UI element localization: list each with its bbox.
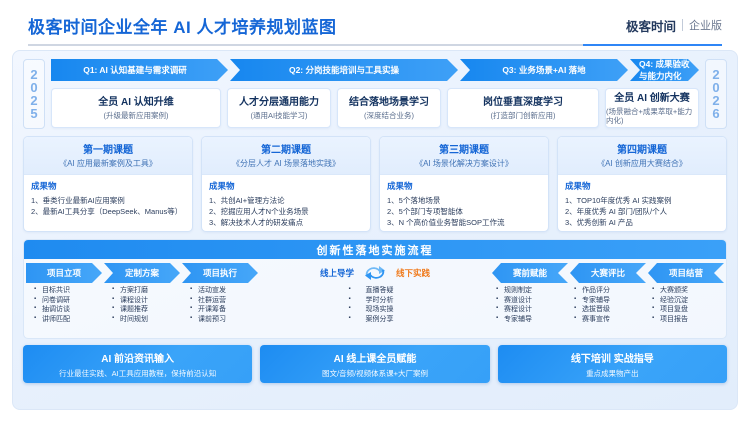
timeline-row: 2 0 2 5 Q1: AI 认知基建与需求调研 Q2: 分岗技能培训与工具实操… <box>23 59 727 129</box>
list-item: 选拔晋级 <box>582 305 644 315</box>
process-column-4: 直播答疑 学时分析 现场实操 案例分享 <box>262 286 488 324</box>
list-item: 专家辅导 <box>582 296 644 306</box>
cycle-arrows-icon <box>362 263 388 283</box>
course-card-3-items: 1、5个落地场景 2、5个部门专项智能体 3、N 个高价值业务智能SOP工作流 <box>387 195 541 228</box>
process-step-6[interactable]: 项目结营 <box>648 263 724 283</box>
list-item: 开课筹备 <box>198 305 260 315</box>
course-card-1-items: 1、垂类行业最新AI应用案例 2、最新AI工具分享（DeepSeek、Manus… <box>31 195 185 217</box>
list-item: 1、TOP10年度优秀 AI 实践案例 <box>565 195 719 206</box>
list-item: 项目报告 <box>660 315 722 325</box>
process-step-1[interactable]: 项目立项 <box>26 263 102 283</box>
list-item: 2、年度优秀 AI 部门/团队/个人 <box>565 206 719 217</box>
process-steps: 项目立项 定制方案 项目执行 线上导学 线下实践 赛前赋能 大赛评比 项目结营 <box>24 263 726 283</box>
process-step-3[interactable]: 项目执行 <box>182 263 258 283</box>
course-card-2-title: 第二期课题 <box>202 141 370 156</box>
course-card-4-deliverable-label: 成果物 <box>565 180 719 192</box>
list-item: 专家辅导 <box>504 315 566 325</box>
process-title: 创新性落地实施流程 <box>24 240 726 259</box>
bottom-bar-3-title: 线下培训 实战指导 <box>571 350 654 365</box>
list-item: 赛程设计 <box>504 305 566 315</box>
list-item: 3、优秀创新 AI 产品 <box>565 217 719 228</box>
list-item: 学时分析 <box>357 296 394 306</box>
quarter-arrow-q1[interactable]: Q1: AI 认知基建与需求调研 <box>51 59 228 81</box>
course-cards-row: 第一期课题 《AI 应用最新案例及工具》 成果物 1、垂类行业最新AI应用案例 … <box>23 136 727 232</box>
quarter-card-1[interactable]: 全员 AI 认知升维 (升级最新应用案例) <box>51 88 221 128</box>
page-title: 极客时间企业全年 AI 人才培养规划蓝图 <box>28 13 336 38</box>
quarter-card-4-title: 岗位垂直深度学习 <box>483 96 563 109</box>
list-item: 1、共创AI+管理方法论 <box>209 195 363 206</box>
list-item: 案例分享 <box>357 315 394 325</box>
quarter-card-2-subtitle: (通用AI技能学习) <box>250 111 307 120</box>
process-column-6: 作品评分 专家辅导 选拔晋级 赛事宣传 <box>568 286 644 324</box>
list-item: 作品评分 <box>582 286 644 296</box>
list-item: 活动宣发 <box>198 286 260 296</box>
course-card-3-title: 第三期课题 <box>380 141 548 156</box>
quarter-card-5-title: 全员 AI 创新大赛 <box>614 92 690 105</box>
quarter-arrow-q4[interactable]: Q4: 成果验收与能力内化 <box>630 59 699 81</box>
list-item: 3、N 个高价值业务智能SOP工作流 <box>387 217 541 228</box>
page-header: 极客时间企业全年 AI 人才培养规划蓝图 极客时间 企业版 <box>0 0 750 50</box>
list-item: 抽调访谈 <box>42 305 104 315</box>
list-item: 目标共识 <box>42 286 104 296</box>
bottom-bars: AI 前沿资讯输入 行业最佳实践、AI工具应用教程，保持前沿认知 AI 线上课全… <box>23 345 727 383</box>
year-start-rail: 2 0 2 5 <box>23 59 45 129</box>
quarter-arrow-q3[interactable]: Q3: 业务场景+AI 落地 <box>460 59 628 81</box>
course-card-1[interactable]: 第一期课题 《AI 应用最新案例及工具》 成果物 1、垂类行业最新AI应用案例 … <box>23 136 193 232</box>
quarter-card-3-subtitle: (深度结合业务) <box>364 111 414 120</box>
quarter-card-4-subtitle: (打造部门创新应用) <box>491 111 556 120</box>
course-card-3-body: 成果物 1、5个落地场景 2、5个部门专项智能体 3、N 个高价值业务智能SOP… <box>380 175 548 228</box>
list-item: 赛事宣传 <box>582 315 644 325</box>
quarter-card-1-title: 全员 AI 认知升维 <box>98 96 174 109</box>
list-item: 课前预习 <box>198 315 260 325</box>
course-card-3-deliverable-label: 成果物 <box>387 180 541 192</box>
course-card-4-body: 成果物 1、TOP10年度优秀 AI 实践案例 2、年度优秀 AI 部门/团队/… <box>558 175 726 228</box>
course-card-2-subtitle: 《分层人才 AI 场景落地实践》 <box>202 158 370 169</box>
course-card-3-header: 第三期课题 《AI 场景化解决方案设计》 <box>380 137 548 175</box>
list-item: 课程设计 <box>120 296 182 306</box>
list-item: 现场实操 <box>357 305 394 315</box>
list-item: 2、最新AI工具分享（DeepSeek、Manus等） <box>31 206 185 217</box>
brand-name: 极客时间 <box>626 16 676 35</box>
list-item: 大赛颁奖 <box>660 286 722 296</box>
course-card-1-body: 成果物 1、垂类行业最新AI应用案例 2、最新AI工具分享（DeepSeek、M… <box>24 175 192 217</box>
quarter-arrows: Q1: AI 认知基建与需求调研 Q2: 分岗技能培训与工具实操 Q3: 业务场… <box>51 59 699 81</box>
bottom-bar-1[interactable]: AI 前沿资讯输入 行业最佳实践、AI工具应用教程，保持前沿认知 <box>23 345 252 383</box>
course-card-2[interactable]: 第二期课题 《分层人才 AI 场景落地实践》 成果物 1、共创AI+管理方法论 … <box>201 136 371 232</box>
list-item: 2、5个部门专项智能体 <box>387 206 541 217</box>
quarter-card-3[interactable]: 结合落地场景学习 (深度结合业务) <box>337 88 441 128</box>
course-card-1-title: 第一期课题 <box>24 141 192 156</box>
quarter-arrow-q2[interactable]: Q2: 分岗技能培训与工具实操 <box>230 59 458 81</box>
process-section: 创新性落地实施流程 项目立项 定制方案 项目执行 线上导学 线下实践 赛前赋能 <box>23 239 727 339</box>
course-card-1-deliverable-label: 成果物 <box>31 180 185 192</box>
bottom-bar-2-title: AI 线上课全员赋能 <box>334 350 417 365</box>
list-item: 3、解决技术人才的研发痛点 <box>209 217 363 228</box>
blueprint-panel: 2 0 2 5 Q1: AI 认知基建与需求调研 Q2: 分岗技能培训与工具实操… <box>12 50 738 410</box>
list-item: 直播答疑 <box>357 286 394 296</box>
bottom-bar-2[interactable]: AI 线上课全员赋能 图文/音频/视频体系课+大厂案例 <box>260 345 489 383</box>
quarter-card-4[interactable]: 岗位垂直深度学习 (打造部门创新应用) <box>447 88 599 128</box>
course-card-1-subtitle: 《AI 应用最新案例及工具》 <box>24 158 192 169</box>
process-column-7: 大赛颁奖 经验沉淀 项目复盘 项目报告 <box>646 286 722 324</box>
bottom-bar-1-subtitle: 行业最佳实践、AI工具应用教程，保持前沿认知 <box>59 368 216 379</box>
course-card-4-subtitle: 《AI 创新应用大赛结合》 <box>558 158 726 169</box>
quarter-card-5[interactable]: 全员 AI 创新大赛 (场景融合+成果萃取+能力内化) <box>605 88 699 128</box>
course-card-4-title: 第四期课题 <box>558 141 726 156</box>
list-item: 1、垂类行业最新AI应用案例 <box>31 195 185 206</box>
bottom-bar-3[interactable]: 线下培训 实战指导 重点成果物产出 <box>498 345 727 383</box>
list-item: 经验沉淀 <box>660 296 722 306</box>
process-detail-columns: 目标共识 问卷调研 抽调访谈 讲师匹配 方案打磨 课程设计 课题推荐 时间规划 <box>24 286 726 324</box>
quarter-card-5-subtitle: (场景融合+成果萃取+能力内化) <box>606 107 698 125</box>
process-step-5[interactable]: 大赛评比 <box>570 263 646 283</box>
course-card-2-body: 成果物 1、共创AI+管理方法论 2、挖掘应用人才N个业务场景 3、解决技术人才… <box>202 175 370 228</box>
cycle-offline-label: 线下实践 <box>396 267 430 279</box>
list-item: 讲师匹配 <box>42 315 104 325</box>
cycle-group: 线上导学 线下实践 <box>260 263 490 283</box>
cycle-online-label: 线上导学 <box>320 267 354 279</box>
header-divider <box>28 44 722 46</box>
list-item: 时间规划 <box>120 315 182 325</box>
brand-edition: 企业版 <box>689 17 722 33</box>
course-card-2-items: 1、共创AI+管理方法论 2、挖掘应用人才N个业务场景 3、解决技术人才的研发痛… <box>209 195 363 228</box>
course-card-2-deliverable-label: 成果物 <box>209 180 363 192</box>
course-card-1-header: 第一期课题 《AI 应用最新案例及工具》 <box>24 137 192 175</box>
year-start-digit-4: 5 <box>30 107 37 120</box>
quarter-card-3-title: 结合落地场景学习 <box>349 96 429 109</box>
process-column-1: 目标共识 问卷调研 抽调访谈 讲师匹配 <box>28 286 104 324</box>
course-card-3[interactable]: 第三期课题 《AI 场景化解决方案设计》 成果物 1、5个落地场景 2、5个部门… <box>379 136 549 232</box>
course-card-4-header: 第四期课题 《AI 创新应用大赛结合》 <box>558 137 726 175</box>
blueprint-page: 极客时间企业全年 AI 人才培养规划蓝图 极客时间 企业版 2 0 2 5 Q1… <box>0 0 750 422</box>
brand-divider <box>682 19 683 31</box>
bottom-bar-1-title: AI 前沿资讯输入 <box>101 350 174 365</box>
list-item: 1、5个落地场景 <box>387 195 541 206</box>
quarter-cards: 全员 AI 认知升维 (升级最新应用案例) 人才分层通用能力 (通用AI技能学习… <box>51 88 699 128</box>
process-column-5: 规则制定 赛道设计 赛程设计 专家辅导 <box>490 286 566 324</box>
list-item: 项目复盘 <box>660 305 722 315</box>
brand-logo: 极客时间 企业版 <box>626 16 722 35</box>
course-card-4[interactable]: 第四期课题 《AI 创新应用大赛结合》 成果物 1、TOP10年度优秀 AI 实… <box>557 136 727 232</box>
course-card-2-header: 第二期课题 《分层人才 AI 场景落地实践》 <box>202 137 370 175</box>
list-item: 社群运营 <box>198 296 260 306</box>
list-item: 课题推荐 <box>120 305 182 315</box>
quarter-card-2-title: 人才分层通用能力 <box>239 96 319 109</box>
process-column-2: 方案打磨 课程设计 课题推荐 时间规划 <box>106 286 182 324</box>
year-end-digit-4: 6 <box>712 107 719 120</box>
year-end-rail: 2 0 2 6 <box>705 59 727 129</box>
list-item: 赛道设计 <box>504 296 566 306</box>
process-column-3: 活动宣发 社群运营 开课筹备 课前预习 <box>184 286 260 324</box>
bottom-bar-3-subtitle: 重点成果物产出 <box>586 368 639 379</box>
list-item: 规则制定 <box>504 286 566 296</box>
quarters-wrapper: Q1: AI 认知基建与需求调研 Q2: 分岗技能培训与工具实操 Q3: 业务场… <box>51 59 699 129</box>
process-step-2[interactable]: 定制方案 <box>104 263 180 283</box>
course-card-4-items: 1、TOP10年度优秀 AI 实践案例 2、年度优秀 AI 部门/团队/个人 3… <box>565 195 719 228</box>
list-item: 方案打磨 <box>120 286 182 296</box>
process-step-4[interactable]: 赛前赋能 <box>492 263 568 283</box>
quarter-card-2[interactable]: 人才分层通用能力 (通用AI技能学习) <box>227 88 331 128</box>
course-card-3-subtitle: 《AI 场景化解决方案设计》 <box>380 158 548 169</box>
quarter-card-1-subtitle: (升级最新应用案例) <box>104 111 169 120</box>
list-item: 问卷调研 <box>42 296 104 306</box>
bottom-bar-2-subtitle: 图文/音频/视频体系课+大厂案例 <box>322 368 428 379</box>
list-item: 2、挖掘应用人才N个业务场景 <box>209 206 363 217</box>
